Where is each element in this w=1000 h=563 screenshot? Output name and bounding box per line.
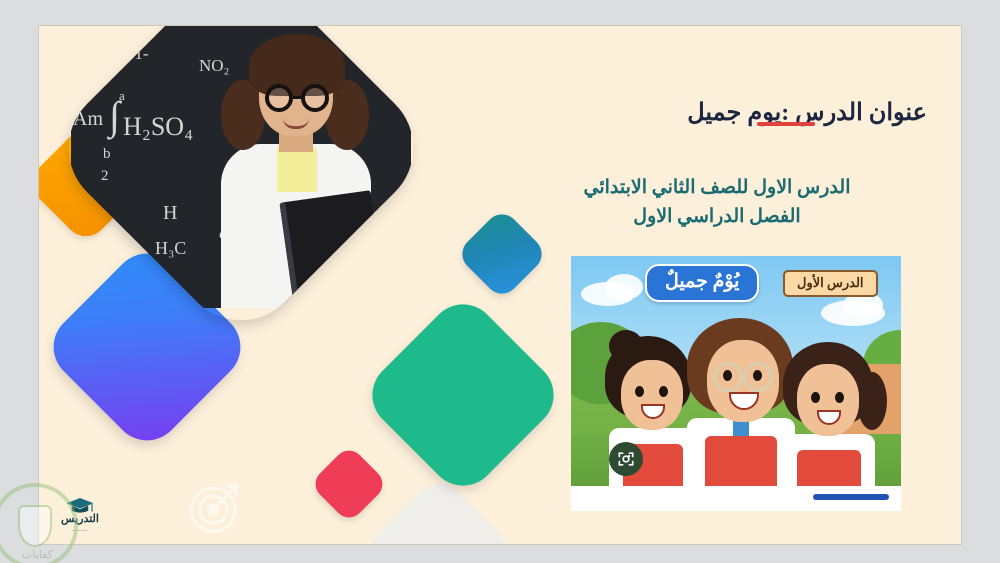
lesson-subtitle-line-1: الدرس الاول للصف الثاني الابتدائي <box>507 174 927 203</box>
title-underline <box>757 122 815 126</box>
student-eye <box>811 392 820 403</box>
lens-glyph <box>616 449 636 469</box>
chalk-formula: a <box>119 88 125 104</box>
chalk-formula: Am <box>73 108 103 131</box>
lesson-thumbnail-card[interactable]: يُوْمٌ جميلٌ الدرس الأول <box>571 256 901 511</box>
thumbnail-footer <box>571 486 901 511</box>
student-eye <box>659 386 668 397</box>
cloud-shape <box>605 274 643 300</box>
girl-glasses-left <box>265 84 293 112</box>
girl-shirt <box>277 148 317 192</box>
student-hair-bun <box>609 330 643 362</box>
girl-book <box>279 190 387 308</box>
chalk-formula: √1- <box>125 44 148 64</box>
chalk-formula: H₃C <box>155 238 186 259</box>
target-arrow-icon <box>187 478 245 536</box>
girl-glasses-right <box>301 84 329 112</box>
lesson-subtitle-line-2: الفصل الدراسي الاول <box>507 203 927 232</box>
decorative-diamond-green <box>358 290 567 499</box>
student-pinafore <box>705 436 777 486</box>
girl-hair <box>249 34 345 96</box>
chalk-formula: Y <box>183 25 199 32</box>
thumbnail-lesson-badge: الدرس الأول <box>783 270 878 297</box>
student-glasses-left <box>713 362 743 392</box>
chalk-formula: NO₂ <box>199 56 229 76</box>
chalk-formula: H₂SO₄ <box>123 112 193 142</box>
google-lens-icon[interactable] <box>609 442 643 476</box>
student-glasses-right <box>743 362 773 392</box>
decorative-diamond-red <box>309 444 388 523</box>
decorative-diamond-gray <box>361 473 517 545</box>
chalk-formula: 2 <box>101 168 109 185</box>
chalk-formula: H <box>163 202 177 225</box>
thumbnail-footer-bar <box>813 494 889 500</box>
watermark-shield-icon <box>18 505 52 547</box>
watermark-label: كفايات <box>22 548 53 561</box>
cartoon-student-right <box>775 342 885 486</box>
thumbnail-title-badge: يُوْمٌ جميلٌ <box>645 264 759 302</box>
girl-glasses-bridge <box>293 96 303 99</box>
lesson-subtitle: الدرس الاول للصف الثاني الابتدائي الفصل … <box>507 174 927 231</box>
student-eye <box>635 386 644 397</box>
student-face <box>797 364 859 436</box>
chalk-formula: b <box>103 146 111 163</box>
student-face <box>621 360 683 430</box>
chalk-formula: c² <box>361 48 374 68</box>
student-eye <box>835 392 844 403</box>
chalk-formula: mv <box>131 25 157 37</box>
slide-canvas: Φ = ES cosmv√1-NO₂YH₂SO₄∫Amab2c²HH₃Cc عن… <box>38 25 962 545</box>
chalk-formula: Φ = ES cos <box>267 25 353 26</box>
student-pinafore <box>797 450 861 486</box>
lesson-thumbnail-image: يُوْمٌ جميلٌ الدرس الأول <box>571 256 901 486</box>
